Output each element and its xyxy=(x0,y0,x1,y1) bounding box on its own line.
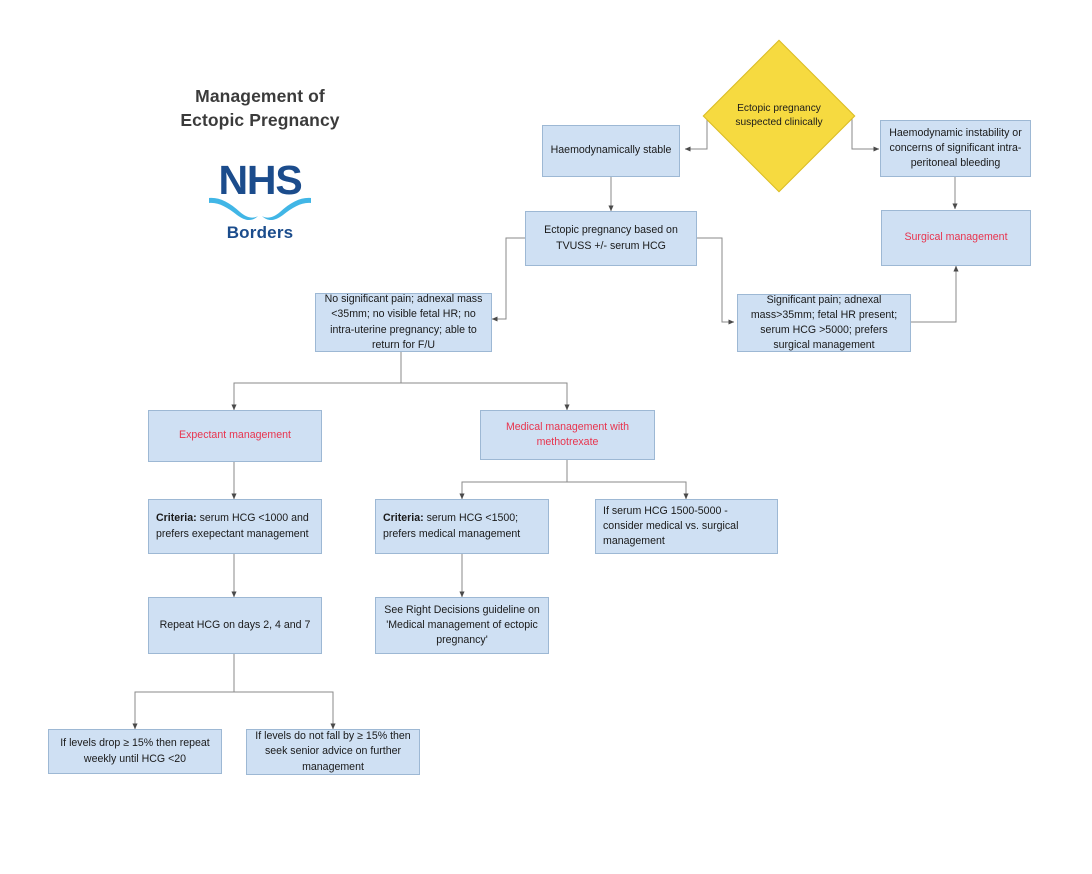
node-medical-management-methotrexate[interactable]: Medical management with methotrexate xyxy=(480,410,655,460)
criteria-bold-label: Criteria: xyxy=(156,512,197,524)
nhs-wordmark: NHS xyxy=(205,160,315,201)
node-text-wrapper: Criteria: serum HCG <1000 and prefers ex… xyxy=(156,511,314,541)
node-ectopic-pregnancy-tvuss[interactable]: Ectopic pregnancy based on TVUSS +/- ser… xyxy=(525,211,697,266)
title-line-2: Ectopic Pregnancy xyxy=(160,109,360,133)
node-label: Repeat HCG on days 2, 4 and 7 xyxy=(156,618,314,633)
nhs-borders-label: Borders xyxy=(205,223,315,243)
node-criteria-expectant[interactable]: Criteria: serum HCG <1000 and prefers ex… xyxy=(148,499,322,554)
node-criteria-medical[interactable]: Criteria: serum HCG <1500; prefers medic… xyxy=(375,499,549,554)
nhs-borders-logo: NHS Borders xyxy=(205,160,315,243)
title-line-1: Management of xyxy=(160,85,360,109)
node-label: If levels drop ≥ 15% then repeat weekly … xyxy=(56,736,214,766)
node-expectant-management[interactable]: Expectant management xyxy=(148,410,322,462)
node-levels-drop[interactable]: If levels drop ≥ 15% then repeat weekly … xyxy=(48,729,222,774)
criteria-bold-label: Criteria: xyxy=(383,512,424,524)
node-label: Surgical management xyxy=(889,230,1023,245)
node-label: Significant pain; adnexal mass>35mm; fet… xyxy=(745,293,903,353)
node-criteria-surgical[interactable]: Significant pain; adnexal mass>35mm; fet… xyxy=(737,294,911,352)
node-haemodynamic-instability[interactable]: Haemodynamic instability or concerns of … xyxy=(880,120,1031,177)
flowchart-canvas: Management of Ectopic Pregnancy NHS Bord… xyxy=(0,0,1092,874)
node-levels-not-falling[interactable]: If levels do not fall by ≥ 15% then seek… xyxy=(246,729,420,775)
node-criteria-conservative[interactable]: No significant pain; adnexal mass <35mm;… xyxy=(315,293,492,352)
node-label: If serum HCG 1500-5000 - consider medica… xyxy=(603,504,770,549)
node-label: See Right Decisions guideline on 'Medica… xyxy=(383,603,541,648)
node-label: Expectant management xyxy=(156,428,314,443)
node-right-decisions-guideline[interactable]: See Right Decisions guideline on 'Medica… xyxy=(375,597,549,654)
node-ectopic-pregnancy-suspected[interactable]: Ectopic pregnancy suspected clinically xyxy=(725,62,833,170)
node-surgical-management[interactable]: Surgical management xyxy=(881,210,1031,266)
node-label: Ectopic pregnancy suspected clinically xyxy=(725,62,833,170)
node-haemodynamically-stable[interactable]: Haemodynamically stable xyxy=(542,125,680,177)
node-label: Medical management with methotrexate xyxy=(488,420,647,450)
node-repeat-hcg[interactable]: Repeat HCG on days 2, 4 and 7 xyxy=(148,597,322,654)
node-label: Haemodynamic instability or concerns of … xyxy=(888,126,1023,171)
node-label: If levels do not fall by ≥ 15% then seek… xyxy=(254,729,412,774)
node-text-wrapper: Criteria: serum HCG <1500; prefers medic… xyxy=(383,511,541,541)
node-label: No significant pain; adnexal mass <35mm;… xyxy=(323,292,484,352)
node-hcg-intermediate[interactable]: If serum HCG 1500-5000 - consider medica… xyxy=(595,499,778,554)
node-label: Haemodynamically stable xyxy=(550,143,672,158)
node-label: Ectopic pregnancy based on TVUSS +/- ser… xyxy=(533,223,689,253)
page-title: Management of Ectopic Pregnancy xyxy=(160,85,360,132)
